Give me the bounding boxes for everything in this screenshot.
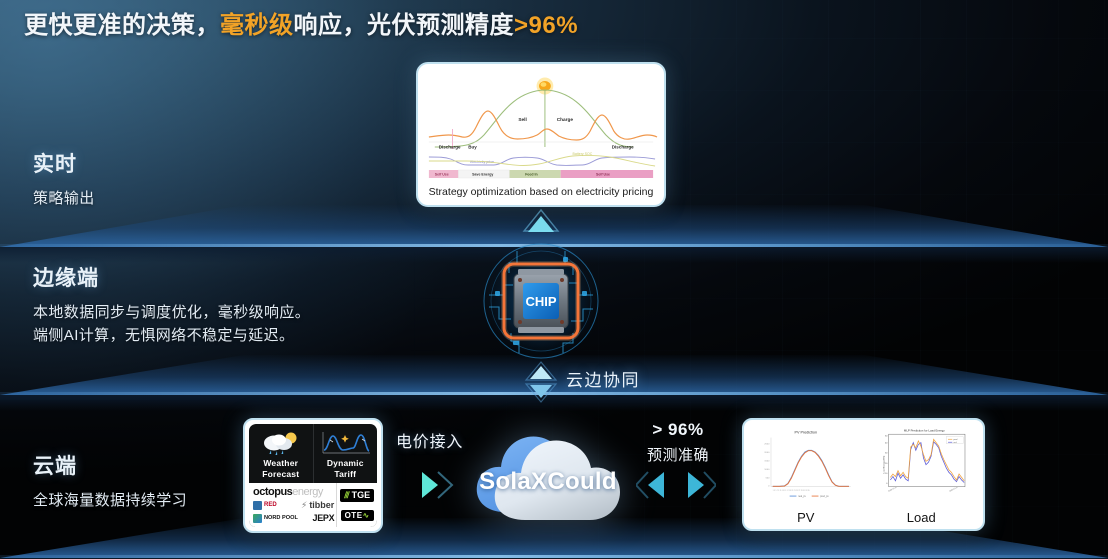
slide-canvas: 更快更准的决策，毫秒级响应，光伏预测精度>96% 实时 策略输出 边缘端 本地数… [0,0,1108,559]
svg-text:Self Use: Self Use [435,172,449,176]
row-title-edge: 边缘端 [33,262,310,292]
row-title-cloud: 云端 [33,450,187,480]
edge-chip[interactable]: CHIP [473,233,609,369]
pv-chart-title: PV Prediction [794,430,817,434]
pv-load-inner: PV Prediction 05001000 150020002500 1 3 … [748,424,979,525]
edge-cloud-sync-label: 云边协同 [566,366,640,391]
arrow-double-icon [524,360,558,404]
headline-percent: >96% [514,12,578,39]
headline-part1: 更快更准的决策， [24,12,220,39]
row-label-cloud: 云端 全球海量数据持续学习 [33,450,187,512]
row-sub-realtime: 策略输出 [33,187,95,210]
svg-text:Charge: Charge [557,117,574,123]
page-title: 更快更准的决策，毫秒级响应，光伏预测精度>96% [24,5,578,40]
chevron-left-icon[interactable] [636,468,668,502]
row-sub-edge-line1: 本地数据同步与调度优化，毫秒级响应。 [33,301,310,324]
svg-text:pred: pred [953,439,957,441]
chip-svg: CHIP [473,233,609,369]
dynamic-tariff-label: DynamicTariff [327,458,364,478]
headline-highlight: 毫秒级 [220,12,294,39]
solax-cloud[interactable]: SolaXCould [463,412,633,534]
headline-part2: 响应，光伏预测精度 [294,12,515,39]
load-caption: Load [864,510,980,525]
data-sources-top: WeatherForecast DynamicTariff [249,424,377,483]
svg-text:pred_pv: pred_pv [820,495,829,498]
logo-nord-pool[interactable]: NORD POOL [253,514,298,523]
svg-text:1 3 5 7 9 11 13 15 17 19 21 23: 1 3 5 7 9 11 13 15 17 19 21 23 25 27 29 … [773,490,810,492]
chip-label: CHIP [525,294,556,309]
strategy-card-caption: Strategy optimization based on electrici… [423,186,659,198]
logo-row-1: octopusenergy [253,486,334,499]
cloud-name: SolaXCould [463,468,633,496]
svg-text:real_pv: real_pv [798,495,807,498]
data-sources-grid: WeatherForecast DynamicTariff [249,424,377,527]
svg-text:2500: 2500 [764,443,770,445]
row-sub-edge: 本地数据同步与调度优化，毫秒级响应。 端侧AI计算，无惧网络不稳定与延迟。 [33,301,310,348]
data-sources-card[interactable]: WeatherForecast DynamicTariff [243,418,383,533]
dynamic-tariff-chart-icon [317,430,373,458]
row-label-edge: 边缘端 本地数据同步与调度优化，毫秒级响应。 端侧AI计算，无惧网络不稳定与延迟… [33,262,310,348]
logo-tge[interactable]: ⫻TGE [340,489,374,502]
svg-text:Feed In: Feed In [525,172,537,176]
strategy-chart-svg: Discharge Buy Sell Charge Discharge Elec… [423,69,659,182]
partner-logos: octopusenergy RED ⚡tibber NORD POOL [249,483,377,527]
dynamic-tariff-cell[interactable]: DynamicTariff [313,424,378,483]
svg-text:1500: 1500 [764,460,770,462]
strategy-chart-card[interactable]: Discharge Buy Sell Charge Discharge Elec… [416,62,666,207]
pv-chart-panel: PV Prediction 05001000 150020002500 1 3 … [748,424,864,525]
weather-forecast-label: WeatherForecast [262,458,299,478]
arrow-up-icon [521,207,561,235]
svg-text:2000: 2000 [764,452,770,454]
logo-row-3: NORD POOL JEPX [253,512,334,525]
svg-text:1000: 1000 [764,469,770,471]
pv-prediction-chart: PV Prediction 05001000 150020002500 1 3 … [748,424,864,502]
chevron-right-icon-2[interactable] [684,468,716,502]
price-access-label: 电价接入 [396,428,463,452]
pv-caption: PV [748,510,864,525]
logo-jepx[interactable]: JEPX [313,513,335,523]
svg-text:Battery SOC: Battery SOC [572,152,592,156]
chevron-right-icon[interactable] [418,468,454,502]
load-chart-panel: MLP Prediction for Load Energy Load Ener… [864,424,980,525]
pv-load-prediction-card[interactable]: PV Prediction 05001000 150020002500 1 3 … [742,418,985,531]
svg-text:Save Energy: Save Energy [472,172,493,176]
weather-rain-cloud-icon [260,430,302,458]
weather-forecast-cell[interactable]: WeatherForecast [249,424,313,483]
svg-text:Discharge: Discharge [612,144,634,149]
accuracy-callout: > 96% 预测准确 [640,420,716,465]
svg-text:Sell: Sell [518,117,526,123]
row-sub-cloud: 全球海量数据持续学习 [33,489,187,512]
partner-logos-left: octopusenergy RED ⚡tibber NORD POOL [249,483,336,527]
accuracy-value: > 96% [640,420,716,440]
partner-logos-right: ⫻TGE OTE∿ [336,483,377,527]
row-label-realtime: 实时 策略输出 [33,148,95,210]
load-prediction-chart: MLP Prediction for Load Energy Load Ener… [864,424,980,502]
row-sub-edge-line2: 端侧AI计算，无惧网络不稳定与延迟。 [33,324,310,347]
load-chart-title: MLP Prediction for Load Energy [903,429,944,433]
logo-row-2: RED ⚡tibber [253,499,334,512]
svg-text:Self Use: Self Use [596,172,610,176]
mode-bar: Self Use Save Energy Feed In Self Use [429,170,653,178]
strategy-chart-inner: Discharge Buy Sell Charge Discharge Elec… [423,69,659,200]
row-title-realtime: 实时 [33,148,95,178]
logo-red-electrica[interactable]: RED [253,501,277,510]
accuracy-label: 预测准确 [640,444,716,465]
svg-text:Buy: Buy [468,144,477,149]
logo-ote[interactable]: OTE∿ [341,510,374,521]
logo-octopus-energy[interactable]: octopusenergy [253,486,323,498]
svg-text:Discharge: Discharge [439,144,461,149]
logo-tibber[interactable]: ⚡tibber [301,500,334,511]
